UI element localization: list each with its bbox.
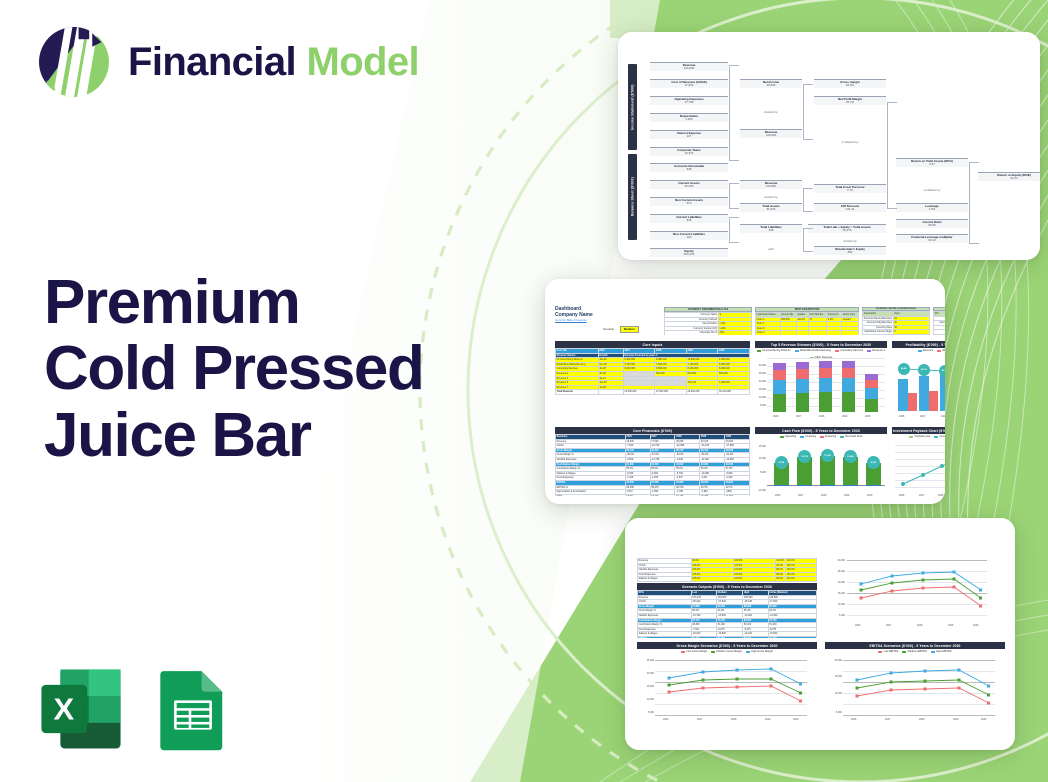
debt-table: Loan/Grant NameAmount ($)QuarterTerm Mon… [755, 312, 859, 335]
microsoft-excel-icon: X [38, 666, 124, 752]
gross-margin-yaxis: 25,000 20,000 15,000 10,000 5,000 [633, 660, 655, 716]
dupont-tree: Income Statement ($'000) Balance Sheet (… [628, 62, 1034, 238]
cash-flow-legend: Operating Investing Financing Net Cash F… [755, 435, 887, 438]
google-sheets-icon [150, 666, 236, 752]
marker-bubble: 10,806 [844, 450, 857, 463]
headline-line-3: Juice Bar [44, 403, 423, 469]
marker-bubble: 8,034 [775, 456, 788, 469]
svg-text:X: X [53, 691, 74, 726]
file-format-icons: X [38, 666, 236, 752]
tree-node: Depreciation1,265 [650, 113, 728, 122]
tree-operator: Add [740, 247, 802, 251]
scenario-label: Scenario [603, 327, 614, 331]
working-capital-panel[interactable]: WORKING CAPITAL & DEPRECIATION Assumptio… [862, 307, 930, 335]
profitability-title: Profitability ($'000) - 5 Years to Decem… [892, 341, 945, 348]
tree-node: Accounts Receivable948 [650, 163, 728, 172]
tree-node: Current Assets50,006 [650, 180, 728, 189]
tree-node: Current Liabilities848 [650, 214, 728, 223]
tree-operator: divided by [740, 195, 802, 199]
core-financials-title: Core Financials ($'000) [555, 427, 750, 434]
dashboard-header: Dashboard Company Name Go to the Table o… [555, 307, 593, 322]
top-5-revenue-yaxis: 5,000 10,000 15,000 20,000 25,000 30,000 [757, 358, 767, 414]
scenario-outputs-title: Scenario Outputs ($'000) - 5 Years to De… [637, 583, 817, 590]
scenario-overview-plot [847, 560, 987, 622]
brand-name-part1: Financial [128, 40, 296, 84]
key-metrics-table: KPIValue Return on Equity (ROE)61.0% Int… [933, 311, 945, 335]
tree-node: Corporate Taxes20,976 [650, 147, 728, 156]
headline-line-2: Cold Pressed [44, 336, 423, 402]
cash-flow-plot: 8,034 10,708 11,200 10,806 8,090 [767, 443, 885, 493]
currency-denomination-panel[interactable]: CURRENCY DENOMINATION & TAX Currency Nam… [664, 307, 752, 335]
gross-margin-scenarios-legend: Low Gross Margin Medium Gross Margin Hig… [637, 650, 817, 653]
profitability-legend: Revenue EBITDA EBITDA % [892, 349, 945, 352]
table-row: Total Revenue 22,500,00027,080,00029,400… [556, 390, 750, 395]
tree-node: Non Current Assets570 [650, 197, 728, 206]
tree-node: Total Assets50,576 [740, 203, 802, 212]
tree-node: Total Asset Turnover2.70 [814, 184, 886, 193]
table-row: EBIT15,51118,20019,24819,28921,800 [556, 494, 750, 496]
top-5-revenue-streams-plot [767, 358, 885, 414]
working-capital-table: AssumptionInput Accounts Receivable Days… [862, 311, 930, 335]
ebitda-scenarios-title: EBITDA Scenarios ($'000) - 5 Years to De… [825, 642, 1005, 649]
tree-node-roe: Return on Equity (ROE)61.03 [978, 172, 1040, 181]
marker-bubble: 8,090 [867, 456, 880, 469]
headline-line-1: Premium [44, 270, 423, 336]
ebitda-scenarios-legend: Low EBITDA Medium EBITDA High EBITDA [825, 650, 1005, 653]
cash-flow-yaxis: 15,000 10,000 5,000 - -10,000 [755, 443, 767, 493]
investment-payback-legend: Payback year Cumulative Cash Generated (… [892, 435, 945, 438]
tree-node: Non Current Liabilities100 [650, 231, 728, 240]
tree-operator: divided by [814, 239, 886, 243]
marker-bubble: 11,200 [821, 449, 834, 462]
marker-bubble: 44.4% [898, 363, 910, 375]
scenario-analysis-sheet[interactable]: Revenue90.0%100.0%110.0% COGS105.0%100.0… [625, 518, 1015, 750]
scenario-outputs-table[interactable]: KPIsLowMediumHighActive (Medium) Revenue… [637, 590, 817, 638]
table-row: 100.0% [786, 577, 817, 582]
tree-node: Net Income48,828 [740, 79, 802, 88]
ebitda-yaxis: 20,000 15,000 10,000 5,000 [821, 660, 843, 716]
gross-margin-scenarios-title: Gross Margin Scenarios ($'000) - 5 Years… [637, 642, 817, 649]
tree-operator: multiplied by [814, 140, 886, 144]
marker-bubble: 10,708 [798, 450, 811, 463]
investment-payback-title: Investment Payback Chart ($'000) - 5 Yea… [892, 427, 945, 434]
table-of-contents-link[interactable]: Go to the Table of Contents [555, 319, 593, 322]
group-label-income-statement: Income Statement ($'000) [628, 64, 637, 150]
brand-logo: Financial Model [36, 24, 419, 100]
financial-model-circle-logo-icon [36, 24, 112, 100]
top-5-revenue-streams-title: Top 5 Revenue Streams ($'000) - 5 Years … [755, 341, 887, 348]
tree-operator: divided by [740, 110, 802, 114]
brand-name-part2: Model [307, 40, 420, 84]
tree-node: A/R Turnover144.24 [814, 203, 886, 212]
table-row: Grant 4 [756, 331, 859, 335]
tree-node: Return on Total Assets (ROA)0.97 [896, 158, 968, 167]
investment-payback-plot [895, 443, 945, 493]
tree-node: Total Liabilities948 [740, 224, 802, 233]
tree-node: Interest Expense127 [650, 130, 728, 139]
scenario-value-cell[interactable]: Medium [620, 326, 639, 333]
dupont-financial-tree-sheet[interactable]: Income Statement ($'000) Balance Sheet (… [618, 32, 1040, 260]
core-financials-table[interactable]: Summary20262027202820292030 Revenue18,30… [555, 434, 750, 496]
tree-node: Current Ratio58.98 [896, 219, 968, 228]
group-label-balance-sheet: Balance Sheet ($'000) [628, 154, 637, 240]
marker-bubble: 42.6% [939, 365, 945, 377]
gross-margin-scenarios-plot [655, 660, 807, 716]
marker-bubble: 43.1% [918, 364, 930, 376]
tree-node: Financial Leverage multiplier60.22 [896, 234, 968, 243]
tree-node: Revenue126,800 [740, 129, 802, 138]
tree-node: Revenue126,800 [740, 180, 802, 189]
table-row: Corporate Tax %20% [665, 331, 752, 335]
core-inputs-title: Core Inputs [555, 341, 750, 348]
core-inputs-table[interactable]: Cost Tab20262027202820292030 Revenue Str… [555, 348, 750, 420]
tree-operator: multiplied by [896, 188, 968, 192]
tree-node: Leverage1.9% [896, 203, 968, 212]
scenario-active-column: 100.0% 100.0% 100.0% 100.0% 100.0% [785, 558, 817, 582]
cash-flow-title: Cash Flow ($'000) - 5 Years to December … [755, 427, 887, 434]
debt-assumptions-panel[interactable]: DEBT ASSUMPTIONS Loan/Grant NameAmount (… [755, 307, 859, 335]
profitability-plot: 44.4% 43.1% 42.6% 42.0% 41.3% [895, 357, 945, 414]
tree-node: Operating Expenses17,758 [650, 96, 728, 105]
key-metrics-panel[interactable]: KEY METRICS KPIValue Return on Equity (R… [933, 307, 945, 335]
currency-table: Currency Name$ Currency Subunitc Denomin… [664, 312, 752, 335]
table-row: Capitalised Interest Target5 [863, 330, 930, 335]
tree-node: Revenue126,800 [650, 62, 728, 71]
scenario-overview-yaxis: 30,000 25,000 20,000 15,000 10,000 5,000 [824, 560, 846, 622]
page-title: Premium Cold Pressed Juice Bar [44, 270, 423, 469]
brand-wordmark: Financial Model [128, 42, 419, 82]
tree-node: Net Profit Margin35.7% [814, 96, 886, 105]
tree-node: Equity#53,278 [650, 248, 728, 257]
table-row: Net Present Value (NPV)1,090.0 [934, 330, 946, 335]
promo-banner: Financial Model Premium Cold Pressed Jui… [0, 0, 1048, 782]
dashboard-sheet[interactable]: Dashboard Company Name Go to the Table o… [545, 279, 945, 504]
tree-node: Cost of Revenue (COGS)47,840 [650, 79, 728, 88]
tree-node: Shareholder's Equity869 [814, 246, 886, 255]
tree-node: Gross margin62.0% [814, 79, 886, 88]
table-row: EBITDA50,38971,70080,10071,700 [638, 637, 817, 638]
ebitda-scenarios-plot [843, 660, 995, 716]
tree-node: Total Liab + Equity = Total Assets50,576 [808, 224, 886, 233]
